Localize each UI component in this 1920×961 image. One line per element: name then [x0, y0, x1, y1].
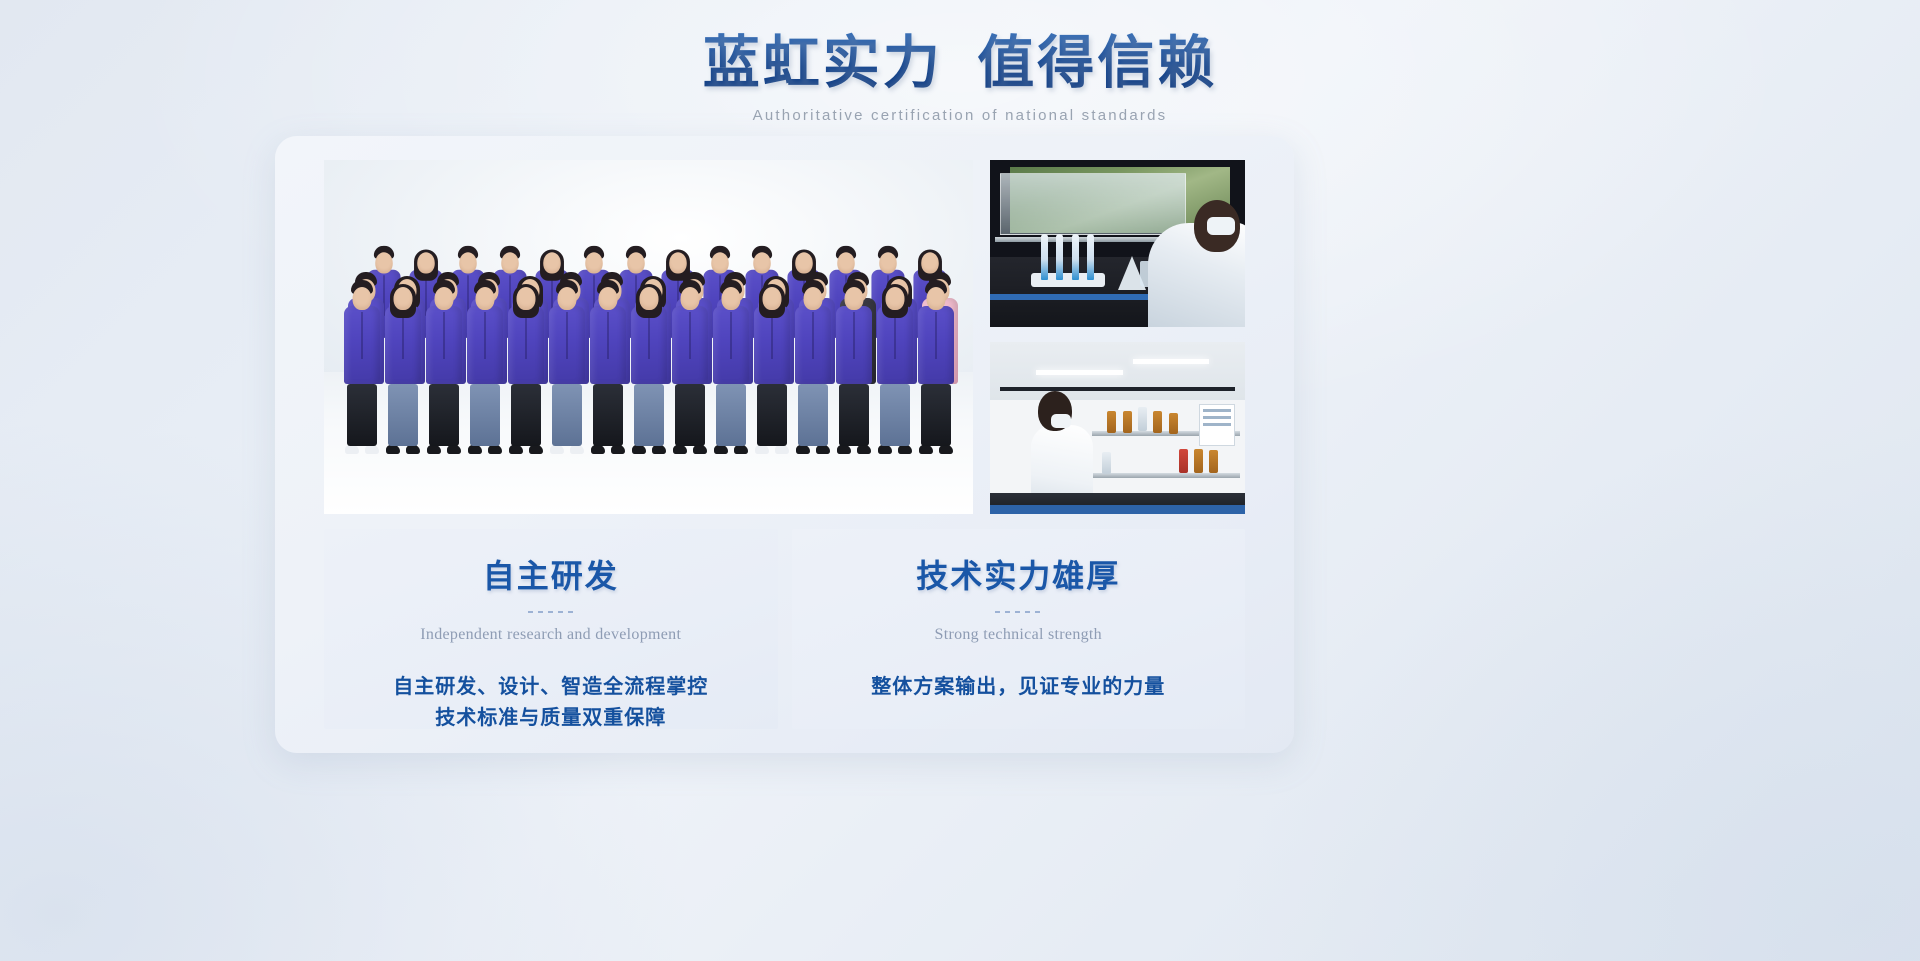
reagent-bottle-icon: [1179, 449, 1188, 473]
member-uniform: [713, 306, 749, 384]
reagent-bottle-icon: [1169, 413, 1178, 434]
page-title: 蓝虹实力 值得信赖: [0, 28, 1920, 99]
member-shoe: [714, 445, 728, 454]
header: 蓝虹实力 值得信赖 Authoritative certification of…: [0, 28, 1920, 124]
content-panel: 自主研发 Independent research and developmen…: [275, 136, 1294, 753]
member-head: [927, 287, 946, 310]
member-uniform: [836, 306, 872, 384]
face-mask-icon: [1207, 217, 1235, 235]
member-uniform: [344, 306, 380, 384]
card-subtitle-en: Independent research and development: [324, 626, 778, 644]
member-legs: [716, 384, 746, 446]
member-shoe: [796, 445, 810, 454]
member-legs: [675, 384, 705, 446]
member-shoe: [611, 445, 625, 454]
team-member: [836, 276, 872, 446]
pipette-icon: [1072, 234, 1079, 280]
member-legs: [798, 384, 828, 446]
member-legs: [388, 384, 418, 446]
member-head: [886, 287, 905, 310]
member-legs: [634, 384, 664, 446]
lab-scene-bottom: [990, 342, 1245, 514]
face-mask-icon: [1051, 414, 1071, 428]
dashed-divider-icon: [995, 611, 1041, 613]
member-shoe: [734, 445, 748, 454]
member-head: [517, 287, 536, 310]
feature-cards: 自主研发 Independent research and developmen…: [324, 529, 1245, 729]
member-legs: [470, 384, 500, 446]
member-shoe: [939, 445, 953, 454]
member-legs: [593, 384, 623, 446]
member-shoe: [570, 445, 584, 454]
member-head: [845, 287, 864, 310]
member-shoe: [693, 445, 707, 454]
page-background: 蓝虹实力 值得信赖 Authoritative certification of…: [0, 0, 1920, 961]
member-shoe: [365, 445, 379, 454]
reagent-bottle-icon: [1153, 411, 1162, 433]
member-legs: [552, 384, 582, 446]
member-shoe: [529, 445, 543, 454]
reagent-bottle-icon: [1194, 449, 1203, 473]
team-member: [795, 276, 831, 446]
ceiling-light-icon: [1036, 370, 1123, 375]
team-member: [508, 276, 544, 446]
page-subtitle: Authoritative certification of national …: [0, 107, 1920, 124]
feature-card-rnd[interactable]: 自主研发 Independent research and developmen…: [324, 529, 778, 729]
member-shoe: [550, 445, 564, 454]
reagent-bottle-icon: [1209, 450, 1218, 473]
member-shoe: [509, 445, 523, 454]
team-member: [918, 276, 954, 446]
team-member: [549, 276, 585, 446]
member-shoe: [775, 445, 789, 454]
team-member: [590, 276, 626, 446]
card-title: 自主研发: [324, 551, 778, 597]
member-shoe: [816, 445, 830, 454]
team-member: [467, 276, 503, 446]
member-legs: [921, 384, 951, 446]
team-photo: [324, 160, 973, 514]
team-members: [324, 220, 973, 450]
card-subtitle-en: Strong technical strength: [792, 626, 1246, 644]
member-head: [681, 287, 700, 310]
member-uniform: [590, 306, 626, 384]
member-shoe: [878, 445, 892, 454]
member-legs: [880, 384, 910, 446]
member-shoe: [386, 445, 400, 454]
reagent-bottle-icon: [1107, 411, 1116, 433]
member-shoe: [652, 445, 666, 454]
team-member: [385, 276, 421, 446]
member-legs: [429, 384, 459, 446]
pipette-icon: [1056, 234, 1063, 280]
card-description: 整体方案输出，见证专业的力量: [792, 672, 1246, 703]
member-shoe: [898, 445, 912, 454]
card-title: 技术实力雄厚: [792, 551, 1246, 597]
fume-hood-glass: [1000, 173, 1186, 235]
member-head: [435, 287, 454, 310]
member-head: [722, 287, 741, 310]
notice-poster: [1199, 404, 1235, 446]
team-member: [344, 276, 380, 446]
pipette-icon: [1041, 234, 1048, 280]
ceiling-light-icon: [1133, 359, 1210, 364]
team-member: [754, 276, 790, 446]
member-legs: [511, 384, 541, 446]
member-head: [640, 287, 659, 310]
reagent-bottle-icon: [1102, 452, 1111, 474]
member-shoe: [919, 445, 933, 454]
member-head: [804, 287, 823, 310]
member-shoe: [468, 445, 482, 454]
member-shoe: [488, 445, 502, 454]
feature-card-technology[interactable]: 技术实力雄厚 Strong technical strength 整体方案输出，…: [792, 529, 1246, 729]
member-uniform: [549, 306, 585, 384]
member-shoe: [632, 445, 646, 454]
member-shoe: [837, 445, 851, 454]
member-uniform: [672, 306, 708, 384]
bench-edge: [990, 505, 1245, 514]
member-shoe: [345, 445, 359, 454]
member-shoe: [406, 445, 420, 454]
member-legs: [347, 384, 377, 446]
member-head: [353, 287, 372, 310]
member-legs: [757, 384, 787, 446]
team-member: [713, 276, 749, 446]
lab-photo-pipetting: [990, 160, 1245, 327]
member-head: [599, 287, 618, 310]
reagent-bottle-icon: [1138, 407, 1147, 431]
member-shoe: [755, 445, 769, 454]
member-head: [558, 287, 577, 310]
pipette-icon: [1087, 234, 1094, 280]
member-legs: [839, 384, 869, 446]
member-head: [476, 287, 495, 310]
member-head: [394, 287, 413, 310]
member-uniform: [426, 306, 462, 384]
dashed-divider-icon: [528, 611, 574, 613]
member-uniform: [467, 306, 503, 384]
member-shoe: [673, 445, 687, 454]
member-shoe: [427, 445, 441, 454]
hood-frame: [1000, 387, 1235, 391]
team-member: [426, 276, 462, 446]
lab-scene-top: [990, 160, 1245, 327]
reagent-bottle-icon: [1123, 411, 1132, 433]
member-uniform: [795, 306, 831, 384]
team-member: [672, 276, 708, 446]
member-head: [763, 287, 782, 310]
team-member: [877, 276, 913, 446]
team-member: [631, 276, 667, 446]
member-uniform: [918, 306, 954, 384]
member-shoe: [447, 445, 461, 454]
member-shoe: [857, 445, 871, 454]
card-description: 自主研发、设计、智造全流程掌控技术标准与质量双重保障: [324, 672, 778, 734]
lab-photo-reagents: [990, 342, 1245, 514]
member-shoe: [591, 445, 605, 454]
photo-gallery: [324, 160, 1245, 514]
